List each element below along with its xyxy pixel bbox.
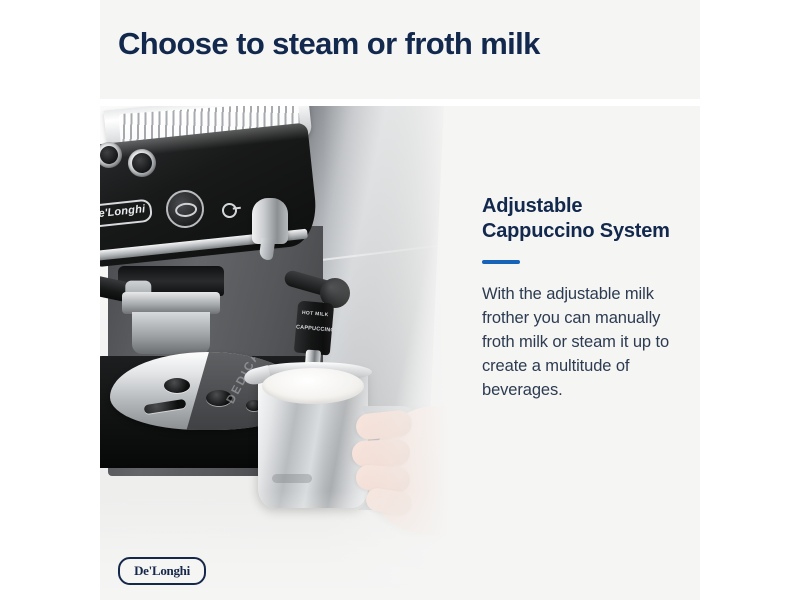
feature-text-column: Adjustable Cappuccino System With the ad… (482, 194, 682, 419)
portafilter-basket (132, 312, 210, 354)
title-band: Choose to steam or froth milk (100, 0, 700, 99)
feature-body-text: With the adjustable milk frother you can… (482, 282, 682, 402)
product-feature-card: Choose to steam or froth milk De'Longhi (0, 0, 800, 600)
feature-heading: Adjustable Cappuccino System (482, 194, 682, 244)
delonghi-logo-text: De'Longhi (134, 563, 190, 579)
grate-slot (144, 399, 187, 414)
adjustable-frother-collar: HOT MILK CAPPUCCINO (294, 301, 334, 356)
frothed-milk (262, 368, 364, 404)
accent-divider (482, 260, 520, 264)
grate-hole (164, 378, 190, 393)
frother-label-cappuccino: CAPPUCCINO (296, 324, 332, 333)
frother-label-hot-milk: HOT MILK (297, 309, 333, 318)
delonghi-logo: De'Longhi (118, 557, 206, 585)
pitcher-brand-mark (272, 474, 312, 483)
product-photo: De'Longhi DEDICA HOT MILK CAPPUCCINO (100, 106, 460, 600)
page-title: Choose to steam or froth milk (118, 24, 540, 64)
steam-control-knob (252, 198, 288, 244)
portafilter-collar (122, 292, 220, 314)
main-content-band: De'Longhi DEDICA HOT MILK CAPPUCCINO (100, 106, 700, 600)
finger (352, 439, 411, 467)
